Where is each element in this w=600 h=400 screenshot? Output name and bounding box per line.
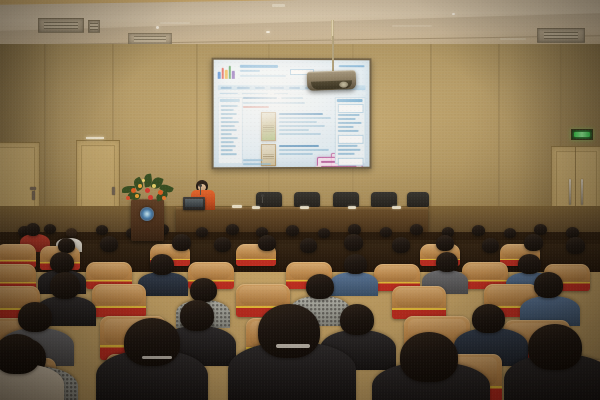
audience-head	[534, 272, 563, 298]
audience-head	[300, 238, 317, 253]
page-main-content	[243, 97, 336, 164]
audience-head	[340, 304, 374, 335]
audience-head	[0, 334, 40, 374]
audience-head	[436, 252, 458, 272]
ceiling-light-strip	[160, 22, 190, 24]
table-paper	[348, 206, 356, 209]
ceiling-light-strip	[392, 25, 432, 27]
recessed-downlight	[266, 31, 270, 33]
emergency-exit-sign: EXIT	[571, 129, 593, 140]
page-tagline-bar	[240, 75, 286, 77]
table-paper	[392, 206, 401, 209]
page-left-sidebar[interactable]	[218, 97, 243, 164]
page-right-sidebar[interactable]	[335, 97, 366, 164]
audience-head	[58, 238, 75, 253]
door-header-light	[86, 137, 104, 139]
audience-head	[344, 254, 367, 274]
table-paper	[252, 206, 260, 209]
header-links-bar[interactable]	[339, 65, 365, 67]
audience-head	[518, 254, 541, 274]
auditorium-photo: EXIT	[0, 0, 600, 400]
sidebar-widget[interactable]	[338, 158, 364, 166]
audience-head	[150, 254, 174, 275]
ceiling-air-vent-left	[38, 18, 84, 33]
audience-head	[436, 235, 454, 251]
audience-head	[180, 300, 214, 331]
ceiling-light-strip	[500, 38, 526, 40]
sidebar-widget[interactable]	[338, 135, 364, 144]
head-table-chair[interactable]	[371, 192, 397, 207]
ceiling-light-strip	[272, 4, 285, 7]
site-logo-icon	[218, 65, 235, 79]
head-table-chair[interactable]	[294, 192, 320, 207]
seat[interactable]	[92, 284, 146, 317]
presenter-laptop[interactable]	[183, 197, 205, 210]
shirt-collar	[142, 356, 172, 359]
audience-head	[482, 238, 499, 253]
audience-head	[566, 237, 585, 254]
audience-head	[472, 304, 505, 333]
page-title-bar	[240, 65, 278, 68]
recessed-downlight	[452, 13, 455, 15]
table-paper	[300, 206, 309, 209]
flower-arrangement	[118, 172, 178, 206]
sidebar-widget[interactable]	[338, 104, 364, 113]
seat[interactable]	[392, 286, 446, 319]
page-breadcrumb-bar	[218, 92, 366, 95]
ceiling-air-vent-left-small	[88, 20, 100, 33]
audience-head	[306, 274, 334, 299]
audience-head	[100, 236, 118, 252]
shirt-collar	[276, 344, 310, 348]
door-handle-icon[interactable]	[581, 179, 583, 205]
audience-head	[26, 223, 40, 236]
door-handle-icon[interactable]	[569, 179, 571, 205]
projector-mount-pole	[332, 36, 334, 74]
head-table-chair[interactable]	[407, 192, 429, 207]
audience-head	[400, 332, 458, 382]
sidebar-heading	[337, 99, 363, 102]
audience-seating	[0, 222, 600, 400]
recessed-downlight	[156, 26, 159, 29]
audience-head	[528, 324, 582, 370]
page-subtitle-bar	[240, 70, 260, 72]
microphone-icon	[199, 184, 202, 187]
audience-head	[524, 234, 543, 251]
door-handle-icon[interactable]	[112, 187, 115, 195]
ceiling-projector	[307, 70, 357, 91]
microphone-stem	[200, 186, 201, 195]
sidebar-heading	[220, 99, 240, 102]
audience-head	[392, 237, 410, 253]
ceiling-air-vent-right	[537, 28, 585, 43]
audience-head	[258, 235, 276, 251]
audience-head	[50, 252, 74, 273]
microphone-stem	[262, 196, 263, 203]
audience-member	[330, 272, 378, 296]
microphone-icon	[261, 194, 264, 197]
audience-head	[258, 304, 320, 358]
door-handle-icon[interactable]	[32, 191, 35, 200]
audience-head	[50, 272, 80, 299]
book-cover-thumbnail[interactable]	[261, 112, 276, 141]
head-table-chair[interactable]	[256, 192, 282, 207]
audience-head	[172, 234, 191, 251]
institution-emblem-icon	[140, 207, 154, 221]
audience-head	[214, 237, 231, 252]
head-table-chair[interactable]	[333, 192, 359, 207]
audience-head	[18, 302, 52, 332]
audience-head	[344, 234, 363, 251]
table-paper	[232, 205, 242, 208]
audience-head	[190, 278, 217, 302]
door-handle-icon[interactable]	[30, 187, 36, 190]
